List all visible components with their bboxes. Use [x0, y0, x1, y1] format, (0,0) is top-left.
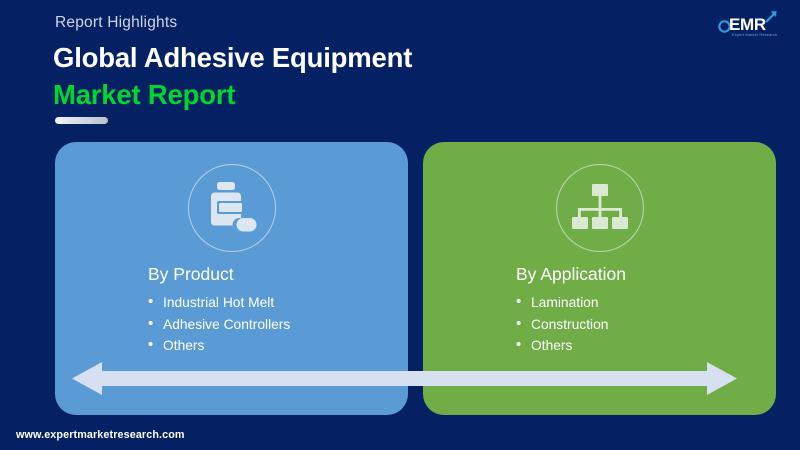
list-item: Industrial Hot Melt [148, 292, 290, 314]
svg-text:Expert Market Research: Expert Market Research [732, 32, 777, 37]
card-bullet-list: Lamination Construction Others [516, 292, 608, 357]
list-item: Lamination [516, 292, 608, 314]
card-bullet-list: Industrial Hot Melt Adhesive Controllers… [148, 292, 290, 357]
list-item: Construction [516, 314, 608, 336]
emr-growth-arrow-icon [766, 11, 777, 22]
list-item: Adhesive Controllers [148, 314, 290, 336]
footer-website-url[interactable]: www.expertmarketresearch.com [16, 429, 185, 441]
adhesive-bottle-icon [188, 164, 276, 252]
card-heading: By Application [516, 264, 626, 285]
page-title-line2: Market Report [53, 79, 235, 111]
page-title-line1: Global Adhesive Equipment [53, 42, 412, 74]
title-underline-accent [55, 117, 108, 124]
hierarchy-chart-icon [556, 164, 644, 252]
slide-canvas: Report Highlights Global Adhesive Equipm… [0, 0, 800, 450]
list-item: Others [148, 335, 290, 357]
double-headed-arrow [72, 360, 737, 397]
eyebrow-label: Report Highlights [55, 14, 177, 32]
list-item: Others [516, 335, 608, 357]
card-heading: By Product [148, 264, 234, 285]
emr-logo[interactable]: EMR Expert Market Research [714, 6, 786, 38]
